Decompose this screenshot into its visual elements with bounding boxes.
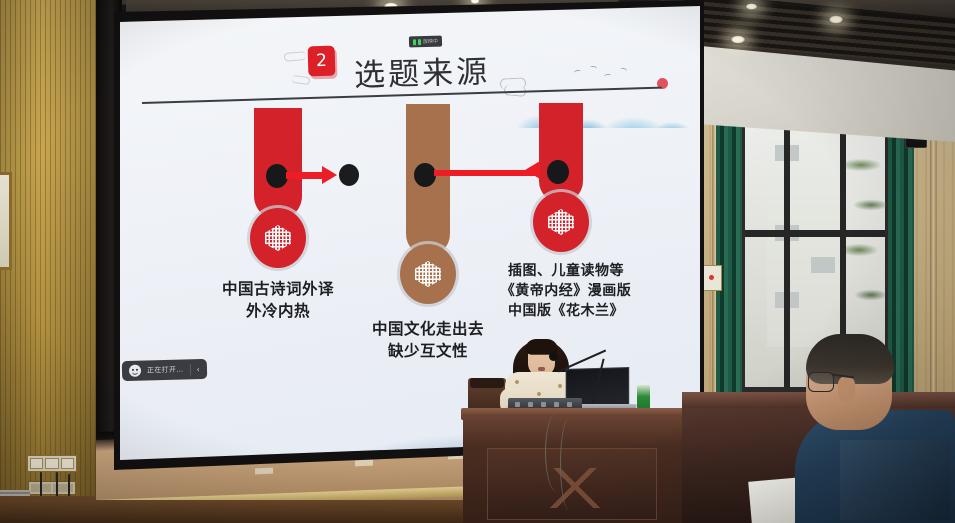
conference-room-scene: 2 选题来源 中国古诗词外译: [0, 0, 955, 523]
slide-number-badge: 2: [308, 46, 336, 77]
column-3-caption-line-3: 中国版《花木兰》: [486, 302, 646, 322]
column-1-caption-line-1: 中国古诗词外译: [208, 278, 348, 300]
power-outlet-panel: [27, 455, 77, 472]
column-2-caption-line-1: 中国文化走出去: [358, 318, 498, 340]
presentation-toolbar-label: 正在打开…: [147, 365, 184, 376]
audience-shirt-fold: [840, 440, 950, 520]
status-indicator-bar: [418, 39, 421, 45]
building-icon: [265, 225, 291, 251]
bird-icon: [590, 65, 598, 70]
palm-tree: [841, 145, 891, 335]
column-1-caption: 中国古诗词外译 外冷内热: [208, 278, 348, 322]
column-2-icon-circle: [400, 244, 456, 304]
toolbar-separator: [189, 364, 190, 375]
badge-decoration-left: [284, 51, 307, 62]
column-3-icon-circle: [533, 192, 589, 252]
bird-icon: [620, 67, 628, 73]
ceiling-light: [730, 35, 746, 44]
slide-title: 选题来源: [353, 46, 490, 95]
column-3-dot: [547, 160, 569, 184]
ceiling-light: [745, 3, 758, 10]
building-icon: [548, 209, 574, 235]
presentation-toolbar[interactable]: 正在打开… ‹: [122, 359, 207, 381]
ceiling-light: [828, 15, 844, 24]
column-1-icon-circle: [250, 208, 306, 268]
building-icon: [415, 261, 441, 287]
microphone-head: [549, 352, 558, 361]
audience-ear: [838, 376, 855, 402]
column-2-dot: [414, 163, 436, 187]
chevron-left-icon[interactable]: ‹: [196, 365, 199, 374]
audience-glasses: [808, 372, 834, 392]
smiley-face-icon[interactable]: [129, 365, 141, 377]
status-badge-label: 放映中: [423, 38, 438, 45]
column-3-bar: [539, 103, 583, 203]
column-1-target-dot: [339, 164, 359, 186]
status-indicator-bar: [413, 39, 416, 45]
bird-icon: [574, 69, 582, 75]
column-1-caption-line-2: 外冷内热: [208, 300, 348, 322]
column-3-arrow-head: [525, 161, 540, 179]
wall-shading: [0, 0, 104, 523]
column-3-caption: 插图、儿童读物等 《黄帝内经》漫画版 中国版《花木兰》: [486, 262, 646, 322]
presenter-mouth: [538, 367, 545, 371]
column-1-arrow-head: [322, 166, 337, 184]
cable-run: [560, 418, 578, 510]
status-badge: 放映中: [409, 36, 442, 48]
framed-picture: [0, 172, 12, 270]
window-mullion: [745, 230, 885, 237]
badge-decoration-bottom: [292, 75, 311, 85]
column-1-dot: [266, 164, 288, 188]
column-3-caption-line-2: 《黄帝内经》漫画版: [486, 282, 646, 302]
column-1-arrow-shaft: [286, 172, 326, 179]
column-3-caption-line-1: 插图、儿童读物等: [486, 262, 646, 282]
exterior-building: [767, 107, 845, 347]
chair-backrest: [470, 378, 504, 388]
